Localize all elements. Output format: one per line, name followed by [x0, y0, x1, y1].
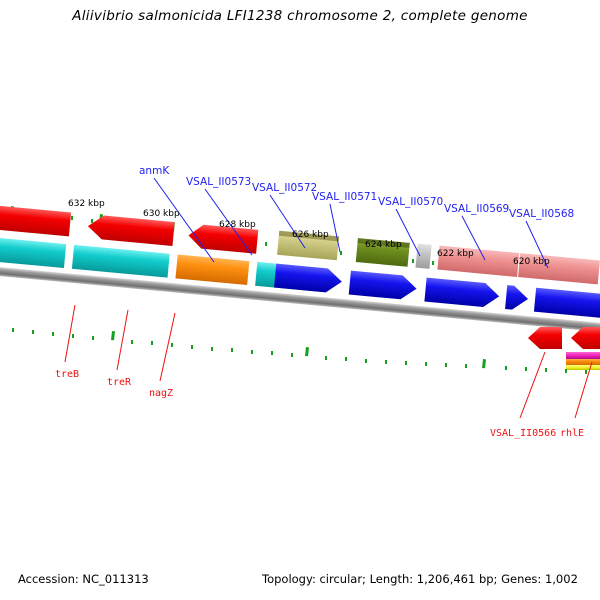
ruler-ticks-lower: [12, 328, 587, 374]
gene-feature-blue[interactable]: [274, 264, 343, 294]
gene-feature-blue[interactable]: [349, 271, 418, 301]
gene-label-nagz[interactable]: nagZ: [149, 388, 173, 399]
gene-feature-red[interactable]: [571, 327, 600, 349]
gene-label-vsal-ii0571[interactable]: VSAL_II0571: [312, 191, 377, 203]
gene-feature-blue[interactable]: [505, 285, 529, 311]
ruler-label-624: 624 kbp: [365, 240, 402, 250]
gene-feature-red[interactable]: [528, 327, 562, 349]
genome-graphic: [0, 0, 600, 600]
gene-label-anmk[interactable]: anmK: [139, 165, 169, 177]
gene-label-vsal-ii0570[interactable]: VSAL_II0570: [378, 196, 443, 208]
ruler-label-632: 632 kbp: [68, 199, 105, 209]
gene-feature-blue[interactable]: [424, 278, 500, 309]
gene-group-right: [528, 327, 600, 370]
gene-feature-magenta[interactable]: [566, 352, 600, 359]
ruler-label-626: 626 kbp: [292, 230, 329, 240]
gene-label-treb[interactable]: treB: [55, 369, 79, 380]
gene-feature-orange[interactable]: [566, 359, 600, 365]
gene-label-rhle[interactable]: rhlE: [560, 428, 584, 439]
gene-feature-blue[interactable]: [534, 288, 600, 322]
accession-text: Accession: NC_011313: [18, 572, 149, 586]
gene-label-vsal-ii0568[interactable]: VSAL_II0568: [509, 208, 574, 220]
gene-feature-cyan[interactable]: [0, 235, 66, 268]
gene-label-vsal-ii0572[interactable]: VSAL_II0572: [252, 182, 317, 194]
gene-feature-yellow[interactable]: [566, 365, 600, 370]
ruler-label-630: 630 kbp: [143, 209, 180, 219]
gene-label-vsal-ii0573[interactable]: VSAL_II0573: [186, 176, 251, 188]
topology-stats-text: Topology: circular; Length: 1,206,461 bp…: [262, 572, 578, 586]
gene-track: [0, 200, 600, 361]
genome-browser-canvas: Aliivibrio salmonicida LFI1238 chromosom…: [0, 0, 600, 600]
ruler-label-628: 628 kbp: [219, 220, 256, 230]
gene-feature-cyan[interactable]: [72, 245, 170, 278]
gene-feature-red[interactable]: [0, 203, 71, 237]
ruler-label-622: 622 kbp: [437, 249, 474, 259]
gene-feature-grey[interactable]: [415, 244, 431, 269]
gene-label-vsal-ii0569[interactable]: VSAL_II0569: [444, 203, 509, 215]
gene-label-vsal-ii0566[interactable]: VSAL_II0566: [490, 428, 556, 439]
gene-label-trer[interactable]: treR: [107, 377, 131, 388]
ruler-label-620: 620 kbp: [513, 257, 550, 267]
